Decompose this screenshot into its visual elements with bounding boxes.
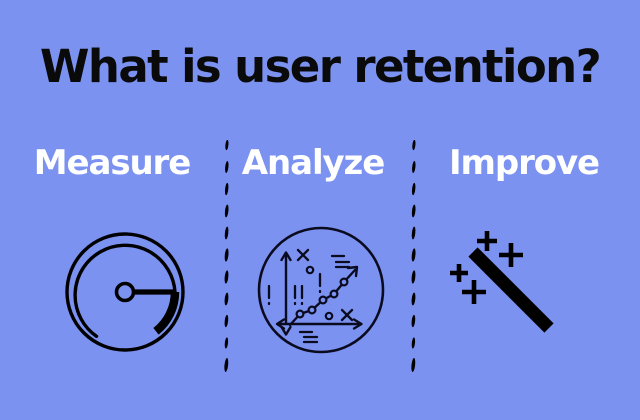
chart-analysis-icon: [256, 224, 386, 356]
column-label-analyze: Analyze: [228, 138, 398, 188]
column-label-improve: Improve: [424, 138, 624, 188]
slide-canvas: What is user retention? Measure Analyze …: [0, 0, 640, 420]
column-label-row: Measure Analyze Improve: [0, 138, 640, 188]
gauge-icon: [55, 222, 195, 362]
magic-wand-icon: [452, 224, 582, 356]
page-title: What is user retention?: [0, 39, 640, 95]
column-label-measure: Measure: [12, 138, 212, 188]
divider-measure-analyze: [224, 140, 229, 378]
divider-analyze-improve: [411, 140, 416, 378]
